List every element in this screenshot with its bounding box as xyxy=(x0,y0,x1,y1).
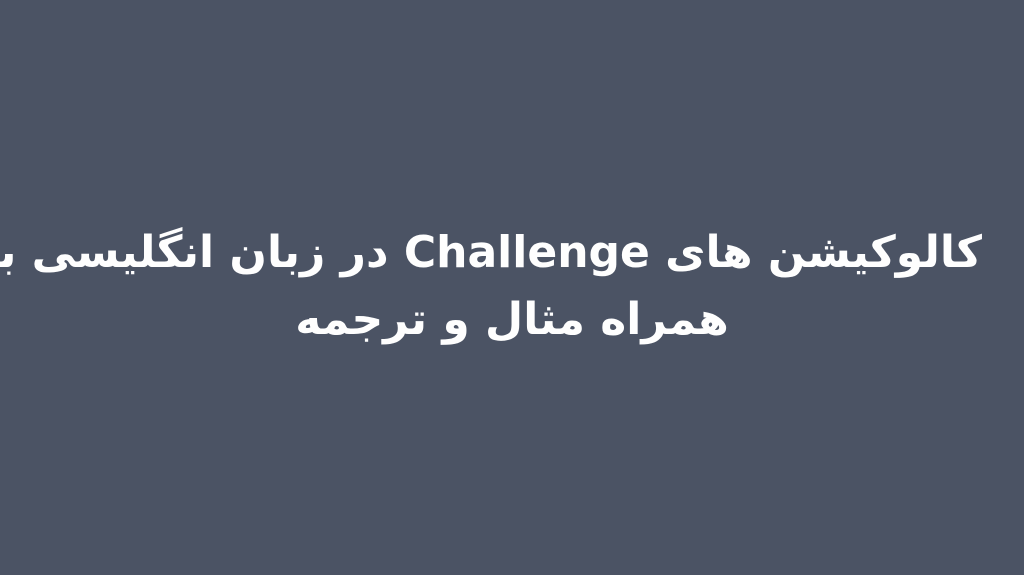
title-banner: کالوکیشن های Challenge در زبان انگلیسی ب… xyxy=(0,0,1024,575)
title-line-2: همراه مثال و ترجمه xyxy=(42,287,982,354)
title-line-1: کالوکیشن های Challenge در زبان انگلیسی ب… xyxy=(42,220,982,287)
page-title: کالوکیشن های Challenge در زبان انگلیسی ب… xyxy=(42,220,982,354)
